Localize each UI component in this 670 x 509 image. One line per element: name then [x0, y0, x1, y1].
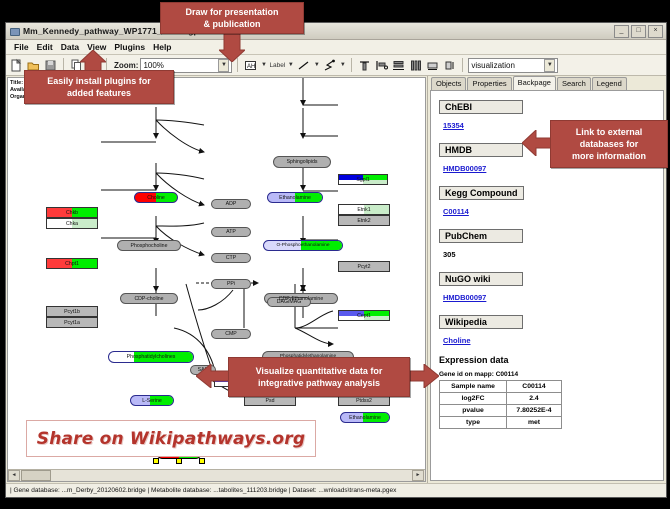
cell-value-pvalue: 7.80252E-4 — [507, 405, 562, 417]
scrollbar-thumb[interactable] — [21, 470, 51, 481]
new-document-icon[interactable] — [9, 58, 24, 73]
callout-viz-line2: integrative pathway analysis — [258, 377, 380, 389]
node-ppi[interactable]: PPi — [211, 279, 251, 289]
maximize-button[interactable]: □ — [631, 25, 646, 38]
db-header-wikipedia: Wikipedia — [439, 315, 523, 329]
zoom-value: 100% — [143, 61, 163, 70]
screenshot-root: Mm_Kennedy_pathway_WP1771_45176.gpml _ □… — [0, 0, 670, 509]
cell-value-type: met — [507, 417, 562, 429]
zoom-label: Zoom: — [114, 61, 138, 70]
node-o-phosphoethanolamine[interactable]: O-Phosphoethanolamine — [263, 240, 343, 251]
cell-key-type: type — [440, 417, 507, 429]
expression-data-title: Expression data — [439, 355, 655, 365]
table-row: type met — [440, 417, 562, 429]
scroll-right-icon[interactable]: ► — [412, 470, 424, 481]
label-dropdown-icon[interactable]: ▼ — [287, 62, 294, 68]
scroll-left-icon[interactable]: ◄ — [8, 470, 20, 481]
menu-edit[interactable]: Edit — [33, 41, 57, 53]
node-cdp-choline[interactable]: CDP-choline — [120, 293, 178, 304]
db-link-nugo[interactable]: HMDB00097 — [443, 293, 486, 302]
tab-backpage[interactable]: Backpage — [513, 76, 556, 90]
callout-links-arrow-icon — [522, 130, 552, 161]
text-box-dropdown-icon[interactable]: ▼ — [260, 62, 267, 68]
db-header-nugo: NuGO wiki — [439, 272, 523, 286]
node-cmp[interactable]: CMP — [211, 329, 251, 339]
node-gene-pcyt2[interactable]: Pcyt2 — [338, 261, 390, 272]
db-block-kegg: Kegg Compound C00114 — [439, 183, 655, 219]
callout-draw-arrow-icon — [219, 32, 245, 67]
db-header-pubchem: PubChem — [439, 229, 523, 243]
cell-key-pvalue: pvalue — [440, 405, 507, 417]
line-icon[interactable] — [296, 58, 311, 73]
tab-objects[interactable]: Objects — [431, 77, 466, 90]
db-link-wikipedia[interactable]: Choline — [443, 336, 471, 345]
node-gene-chkb[interactable]: Chkb — [46, 207, 98, 218]
callout-links-line3: more information — [572, 150, 646, 162]
chevron-down-icon-2[interactable]: ▼ — [544, 59, 555, 72]
db-link-chebi[interactable]: 15354 — [443, 121, 464, 130]
node-adp[interactable]: ADP — [211, 199, 251, 209]
callout-plugins-line1: Easily install plugins for — [47, 75, 151, 87]
align-top-icon[interactable] — [357, 58, 372, 73]
db-block-pubchem: PubChem 305 — [439, 226, 655, 262]
close-button[interactable]: × — [648, 25, 663, 38]
status-bar: | Gene database: ...m_Derby_20120602.bri… — [6, 483, 666, 497]
distribute-vertical-icon[interactable] — [391, 58, 406, 73]
node-gene-pcyt1b[interactable]: Pcyt1b — [46, 306, 98, 317]
tab-search[interactable]: Search — [557, 77, 591, 90]
node-ethanolamine-right[interactable]: Ethanolamine — [340, 412, 390, 423]
cell-value-sample-name: C00114 — [507, 381, 562, 393]
window-title-bar: Mm_Kennedy_pathway_WP1771_45176.gpml _ □… — [6, 23, 666, 40]
node-choline-top[interactable]: Choline — [134, 192, 178, 203]
expression-table: Sample name C00114 log2FC 2.4 pvalue 7.8… — [439, 380, 562, 429]
menu-file[interactable]: File — [10, 41, 33, 53]
callout-draw-line1: Draw for presentation — [185, 6, 278, 18]
visualization-value: visualization — [471, 61, 515, 70]
node-ctp[interactable]: CTP — [211, 253, 251, 263]
interaction-dropdown-icon[interactable]: ▼ — [339, 62, 346, 68]
node-gene-cept1[interactable]: Cept1 — [338, 310, 390, 321]
line-dropdown-icon[interactable]: ▼ — [313, 62, 320, 68]
minimize-button[interactable]: _ — [614, 25, 629, 38]
node-l-serine-left[interactable]: L-Serine — [130, 395, 174, 406]
cell-key-sample-name: Sample name — [440, 381, 507, 393]
callout-viz-arrow-right-icon — [405, 364, 439, 393]
cell-key-log2fc: log2FC — [440, 393, 507, 405]
share-banner-text: Share on Wikipathways.org — [37, 429, 305, 449]
table-row: log2FC 2.4 — [440, 393, 562, 405]
node-sphingolipids[interactable]: Sphingolipids — [273, 156, 331, 168]
size-icon[interactable] — [442, 58, 457, 73]
selection-handle-se[interactable] — [199, 458, 205, 464]
toolbar-separator-4 — [351, 58, 352, 72]
callout-visualize-data: Visualize quantitative data for integrat… — [228, 357, 410, 397]
node-gene-chpt1[interactable]: Chpt1 — [46, 258, 98, 269]
node-gene-sgpl1[interactable]: Sgpl1 — [338, 174, 388, 185]
node-phosphocholine[interactable]: Phosphocholine — [117, 240, 181, 251]
canvas-horizontal-scrollbar[interactable]: ◄ ► — [8, 469, 425, 481]
svg-text:AH: AH — [247, 64, 255, 70]
callout-viz-arrow-left-icon — [196, 364, 230, 393]
application-icon — [9, 26, 19, 36]
node-gene-pcyt1a[interactable]: Pcyt1a — [46, 317, 98, 328]
selection-handle-sw[interactable] — [153, 458, 159, 464]
status-bar-text: | Gene database: ...m_Derby_20120602.bri… — [10, 487, 396, 494]
interaction-icon[interactable] — [322, 58, 337, 73]
callout-links-line1: Link to external — [576, 126, 643, 138]
db-link-kegg[interactable]: C00114 — [443, 207, 469, 216]
side-panel-tabs: Objects Properties Backpage Search Legen… — [428, 76, 666, 90]
callout-install-plugins: Easily install plugins for added feature… — [24, 70, 174, 104]
visualization-combobox[interactable]: visualization ▼ — [468, 58, 558, 73]
db-block-wikipedia: Wikipedia Choline — [439, 312, 655, 348]
menu-help[interactable]: Help — [149, 41, 175, 53]
callout-links-line2: databases for — [580, 138, 639, 150]
callout-draw-for-presentation: Draw for presentation & publication — [160, 2, 304, 34]
db-block-nugo: NuGO wiki HMDB00097 — [439, 269, 655, 305]
db-header-hmdb: HMDB — [439, 143, 523, 157]
node-ethanolamine-top[interactable]: Ethanolamine — [267, 192, 323, 203]
callout-share-wikipathways: Share on Wikipathways.org — [26, 420, 316, 457]
db-header-kegg: Kegg Compound — [439, 186, 524, 200]
node-gene-etnk1[interactable]: Etnk1 — [338, 204, 390, 215]
callout-plugins-line2: added features — [67, 87, 131, 99]
db-value-pubchem: 305 — [443, 250, 456, 259]
db-header-chebi: ChEBI — [439, 100, 523, 114]
toolbar-separator-5 — [462, 58, 463, 72]
node-gene-etnk2[interactable]: Etnk2 — [338, 215, 390, 226]
tab-properties[interactable]: Properties — [467, 77, 511, 90]
callout-draw-line2: & publication — [204, 18, 261, 30]
stack-icon[interactable] — [425, 58, 440, 73]
selection-handle-s[interactable] — [176, 458, 182, 464]
table-row: pvalue 7.80252E-4 — [440, 405, 562, 417]
menu-plugins[interactable]: Plugins — [110, 41, 149, 53]
distribute-horizontal-icon[interactable] — [408, 58, 423, 73]
align-left-icon[interactable] — [374, 58, 389, 73]
db-link-hmdb[interactable]: HMDB00097 — [443, 164, 486, 173]
window-controls: _ □ × — [614, 25, 663, 38]
gene-id-label: Gene id on mapp: C00114 — [439, 371, 655, 378]
text-box-icon[interactable]: AH — [243, 58, 258, 73]
cell-value-log2fc: 2.4 — [507, 393, 562, 405]
label-tool-label[interactable]: Label — [269, 62, 285, 69]
node-atp[interactable]: ATP — [211, 227, 251, 237]
node-gene-chka[interactable]: Chka — [46, 218, 98, 229]
callout-viz-line1: Visualize quantitative data for — [256, 365, 383, 377]
node-phosphatidylcholines[interactable]: Phosphatidylcholines — [108, 351, 194, 363]
callout-external-links: Link to external databases for more info… — [550, 120, 668, 168]
table-row: Sample name C00114 — [440, 381, 562, 393]
tab-legend[interactable]: Legend — [592, 77, 627, 90]
